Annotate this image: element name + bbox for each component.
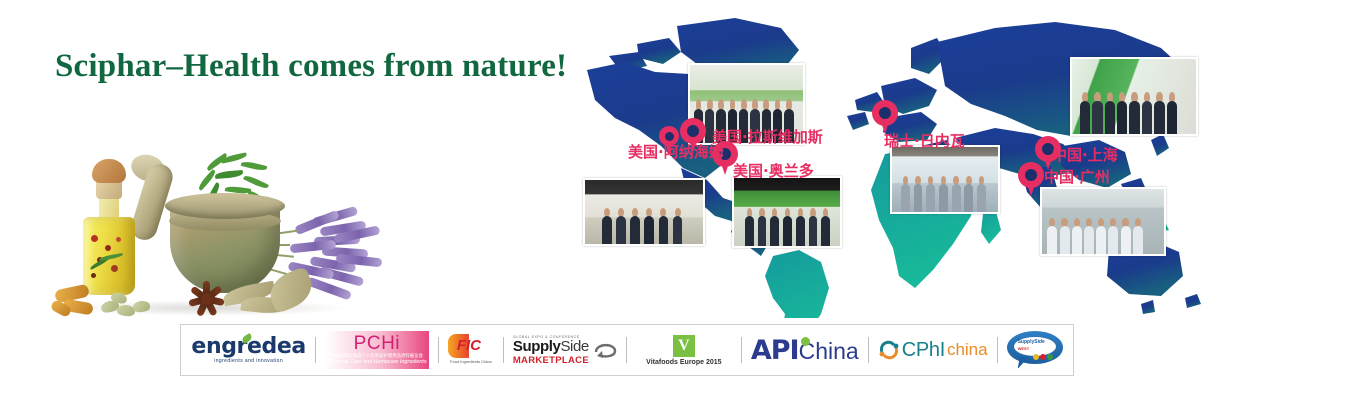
supplysidewest-wordmark: SupplySide	[1018, 339, 1045, 345]
pin-hole	[879, 107, 891, 119]
vitafoods-v-icon: V	[673, 335, 695, 357]
pchi-tagline-en: Personal Care and Homecare Ingredients	[327, 359, 427, 366]
color-dots-icon	[1033, 353, 1057, 361]
logo-separator	[315, 337, 316, 363]
map-label-shanghai: 中国·上海	[1052, 144, 1118, 165]
cphi-wordmark: CPhI	[902, 339, 945, 362]
star-anise	[189, 281, 223, 315]
herbal-still-life-image	[45, 155, 375, 320]
page-title: Sciphar–Health comes from nature!	[55, 48, 567, 85]
logo-vitafoods[interactable]: V Vitafoods Europe 2015	[636, 325, 732, 375]
logo-supplyside-west[interactable]: SupplySide WEST	[1007, 325, 1063, 375]
logo-api-china[interactable]: APIChina	[751, 325, 859, 375]
fic-tagline: Food Ingredients China	[448, 359, 494, 364]
green-dot-icon	[801, 337, 810, 346]
fic-wordmark: FIC	[457, 337, 481, 354]
bottle-stopper	[92, 159, 126, 183]
map-label-anaheim: 美国·阿纳海姆	[628, 141, 724, 162]
supplysidewest-subline: WEST	[1018, 346, 1030, 351]
partner-logo-bar: engredea ingredients and innovation PCHi…	[180, 324, 1074, 376]
photo-shanghai	[1070, 57, 1198, 136]
logo-separator	[741, 337, 742, 363]
logo-separator	[438, 337, 439, 363]
swirl-arrow-icon	[593, 340, 619, 360]
pin-hole	[665, 132, 674, 141]
photo-orlando	[732, 176, 842, 248]
pin-tip	[720, 160, 730, 175]
mortar-rim	[165, 193, 285, 219]
engredea-tagline: ingredients and innovation	[191, 358, 305, 365]
map-label-geneva: 瑞士·日内瓦	[884, 130, 965, 151]
logo-separator	[626, 337, 627, 363]
pin-hole	[687, 125, 699, 137]
photo-guangzhou	[1040, 187, 1166, 256]
logo-cphi-china[interactable]: CPhI china	[878, 325, 988, 375]
map-label-lasvegas: 美国·拉斯维加斯	[712, 126, 823, 147]
api-wordmark: API	[751, 335, 799, 366]
banner-canvas: Sciphar–Health comes from nature!	[0, 0, 1366, 400]
photo-anaheim	[583, 178, 705, 246]
map-label-orlando: 美国·奥兰多	[733, 160, 814, 181]
logo-separator	[503, 337, 504, 363]
cphi-swirl-icon	[878, 339, 900, 361]
photo-geneva	[890, 145, 1000, 214]
logo-supplyside-marketplace[interactable]: GLOBAL EXPO & CONFERENCE SupplySide MARK…	[513, 325, 617, 375]
map-label-guangzhou: 中国·广州	[1044, 166, 1110, 187]
pin-tip	[1026, 181, 1036, 196]
logo-engredea[interactable]: engredea ingredients and innovation	[191, 325, 305, 375]
logo-fic[interactable]: FIC Food Ingredients China	[448, 325, 494, 375]
oil-bottle	[83, 217, 135, 295]
logo-separator	[997, 337, 998, 363]
pchi-wordmark: PCHi	[327, 334, 427, 353]
cphi-china-wordmark: china	[947, 340, 988, 360]
pin-hole	[1025, 169, 1037, 181]
vitafoods-tagline: Vitafoods Europe 2015	[636, 359, 732, 366]
map-pin-geneva[interactable]	[872, 100, 898, 134]
map-pin-guangzhou[interactable]	[1018, 162, 1044, 196]
logo-separator	[868, 337, 869, 363]
logo-pchi[interactable]: PCHi 中国国际化妆品个人及家庭护理用品原料展览会 Personal Care…	[325, 325, 429, 375]
